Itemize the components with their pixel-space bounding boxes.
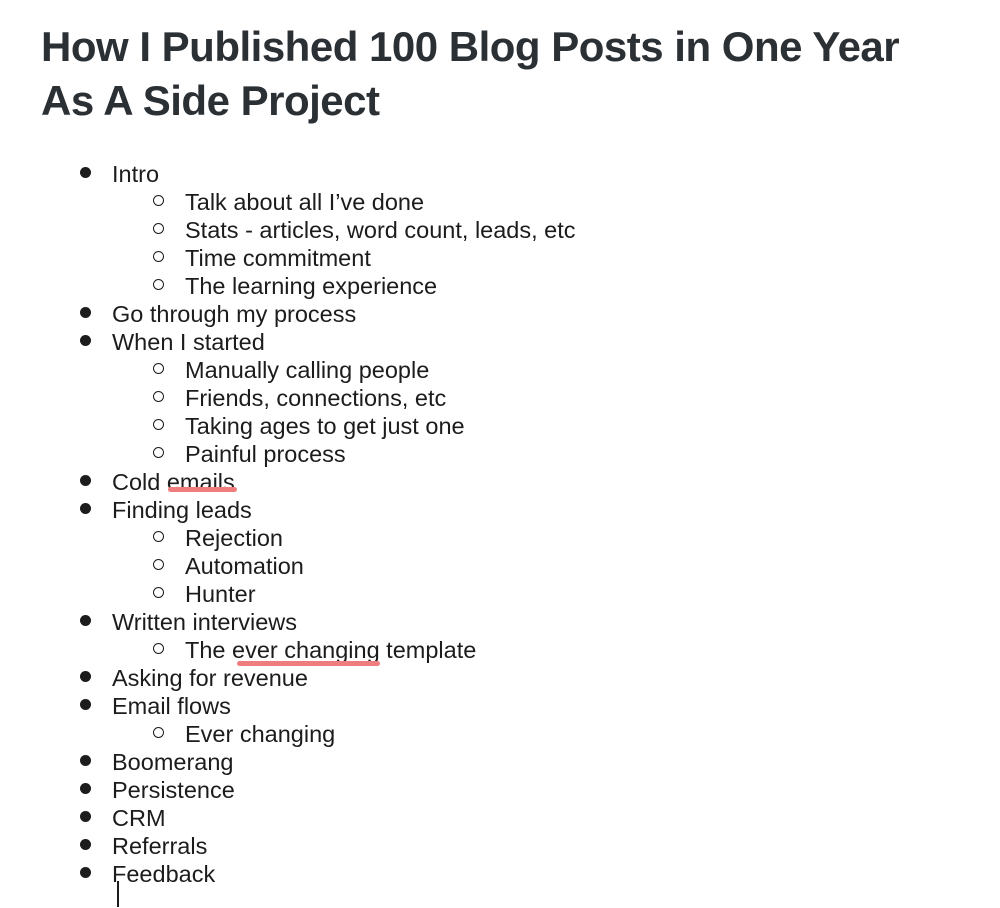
outline-list: IntroTalk about all I’ve doneStats - art… xyxy=(0,160,1000,888)
bullet-disc-shape xyxy=(80,755,91,766)
document-page: How I Published 100 Blog Posts in One Ye… xyxy=(0,0,1000,908)
bullet-circle-shape xyxy=(153,195,164,206)
outline-item[interactable]: Talk about all I’ve done xyxy=(0,188,1000,216)
outline-item[interactable]: The learning experience xyxy=(0,272,1000,300)
bullet-disc-icon xyxy=(80,160,91,188)
bullet-circle-icon xyxy=(153,412,164,440)
outline-item-label: The ever changing template xyxy=(185,636,476,664)
bullet-circle-icon xyxy=(153,524,164,552)
bullet-circle-icon xyxy=(153,216,164,244)
annotation-underline xyxy=(237,661,380,666)
outline-item[interactable]: When I started xyxy=(0,328,1000,356)
outline-item[interactable]: Intro xyxy=(0,160,1000,188)
bullet-disc-icon xyxy=(80,692,91,720)
outline-item-label: Rejection xyxy=(185,524,283,552)
bullet-circle-icon xyxy=(153,188,164,216)
bullet-circle-shape xyxy=(153,363,164,374)
bullet-disc-shape xyxy=(80,699,91,710)
bullet-disc-shape xyxy=(80,839,91,850)
outline-item[interactable]: Finding leads xyxy=(0,496,1000,524)
bullet-disc-shape xyxy=(80,783,91,794)
bullet-circle-shape xyxy=(153,531,164,542)
bullet-disc-shape xyxy=(80,867,91,878)
outline-item-label: Manually calling people xyxy=(185,356,429,384)
text-caret xyxy=(117,881,119,907)
bullet-circle-shape xyxy=(153,559,164,570)
outline-item[interactable]: Referrals xyxy=(0,832,1000,860)
bullet-disc-icon xyxy=(80,496,91,524)
bullet-disc-icon xyxy=(80,664,91,692)
bullet-disc-icon xyxy=(80,300,91,328)
outline-item[interactable]: Rejection xyxy=(0,524,1000,552)
bullet-disc-shape xyxy=(80,811,91,822)
bullet-disc-icon xyxy=(80,328,91,356)
outline-item[interactable]: The ever changing template xyxy=(0,636,1000,664)
outline-item-label: Automation xyxy=(185,552,304,580)
bullet-circle-shape xyxy=(153,447,164,458)
outline-item-label: CRM xyxy=(112,804,166,832)
outline-item-label: Finding leads xyxy=(112,496,252,524)
outline-item[interactable]: Automation xyxy=(0,552,1000,580)
outline-item-label: When I started xyxy=(112,328,265,356)
bullet-circle-shape xyxy=(153,391,164,402)
bullet-circle-icon xyxy=(153,356,164,384)
outline-item-label: Talk about all I’ve done xyxy=(185,188,424,216)
outline-item-label: Friends, connections, etc xyxy=(185,384,446,412)
bullet-disc-icon xyxy=(80,468,91,496)
outline-item[interactable]: CRM xyxy=(0,804,1000,832)
bullet-circle-icon xyxy=(153,720,164,748)
outline-item-label: Ever changing xyxy=(185,720,335,748)
outline-item-label: Persistence xyxy=(112,776,235,804)
outline-item-label: Stats - articles, word count, leads, etc xyxy=(185,216,576,244)
bullet-disc-shape xyxy=(80,475,91,486)
bullet-disc-icon xyxy=(80,608,91,636)
outline-item[interactable]: Email flows xyxy=(0,692,1000,720)
outline-item-label: Time commitment xyxy=(185,244,371,272)
bullet-circle-icon xyxy=(153,244,164,272)
outline-item[interactable]: Friends, connections, etc xyxy=(0,384,1000,412)
outline-item-label: Written interviews xyxy=(112,608,297,636)
outline-item-label: Email flows xyxy=(112,692,231,720)
bullet-circle-icon xyxy=(153,272,164,300)
outline-item[interactable]: Go through my process xyxy=(0,300,1000,328)
bullet-disc-shape xyxy=(80,307,91,318)
outline-item[interactable]: Cold emails xyxy=(0,468,1000,496)
outline-item[interactable]: Written interviews xyxy=(0,608,1000,636)
outline-item[interactable]: Feedback xyxy=(0,860,1000,888)
page-title: How I Published 100 Blog Posts in One Ye… xyxy=(41,20,941,128)
bullet-disc-icon xyxy=(80,804,91,832)
outline-item-label: Referrals xyxy=(112,832,207,860)
bullet-circle-shape xyxy=(153,419,164,430)
bullet-circle-icon xyxy=(153,552,164,580)
bullet-circle-shape xyxy=(153,251,164,262)
bullet-disc-icon xyxy=(80,832,91,860)
outline-item-label: The learning experience xyxy=(185,272,437,300)
outline-item-label: Hunter xyxy=(185,580,256,608)
bullet-circle-shape xyxy=(153,223,164,234)
outline-item-label: Boomerang xyxy=(112,748,234,776)
bullet-circle-shape xyxy=(153,587,164,598)
outline-item[interactable]: Time commitment xyxy=(0,244,1000,272)
outline-item[interactable]: Taking ages to get just one xyxy=(0,412,1000,440)
annotation-underline xyxy=(168,487,237,492)
bullet-circle-icon xyxy=(153,580,164,608)
outline-item[interactable]: Persistence xyxy=(0,776,1000,804)
outline-item-label: Go through my process xyxy=(112,300,356,328)
outline-item-label: Feedback xyxy=(112,860,215,888)
bullet-circle-icon xyxy=(153,440,164,468)
bullet-disc-icon xyxy=(80,776,91,804)
outline-item[interactable]: Stats - articles, word count, leads, etc xyxy=(0,216,1000,244)
bullet-disc-shape xyxy=(80,671,91,682)
outline-item[interactable]: Asking for revenue xyxy=(0,664,1000,692)
bullet-disc-icon xyxy=(80,748,91,776)
bullet-disc-shape xyxy=(80,615,91,626)
bullet-circle-shape xyxy=(153,727,164,738)
bullet-circle-icon xyxy=(153,636,164,664)
bullet-circle-shape xyxy=(153,279,164,290)
bullet-circle-icon xyxy=(153,384,164,412)
bullet-disc-icon xyxy=(80,860,91,888)
outline-item-label: Taking ages to get just one xyxy=(185,412,465,440)
outline-item[interactable]: Ever changing xyxy=(0,720,1000,748)
outline-item[interactable]: Hunter xyxy=(0,580,1000,608)
bullet-disc-shape xyxy=(80,167,91,178)
outline-item-label: Intro xyxy=(112,160,159,188)
outline-item-label: Asking for revenue xyxy=(112,664,308,692)
outline-item[interactable]: Manually calling people xyxy=(0,356,1000,384)
outline-item[interactable]: Boomerang xyxy=(0,748,1000,776)
bullet-circle-shape xyxy=(153,643,164,654)
bullet-disc-shape xyxy=(80,335,91,346)
outline-item-label: Painful process xyxy=(185,440,346,468)
outline-item[interactable]: Painful process xyxy=(0,440,1000,468)
bullet-disc-shape xyxy=(80,503,91,514)
